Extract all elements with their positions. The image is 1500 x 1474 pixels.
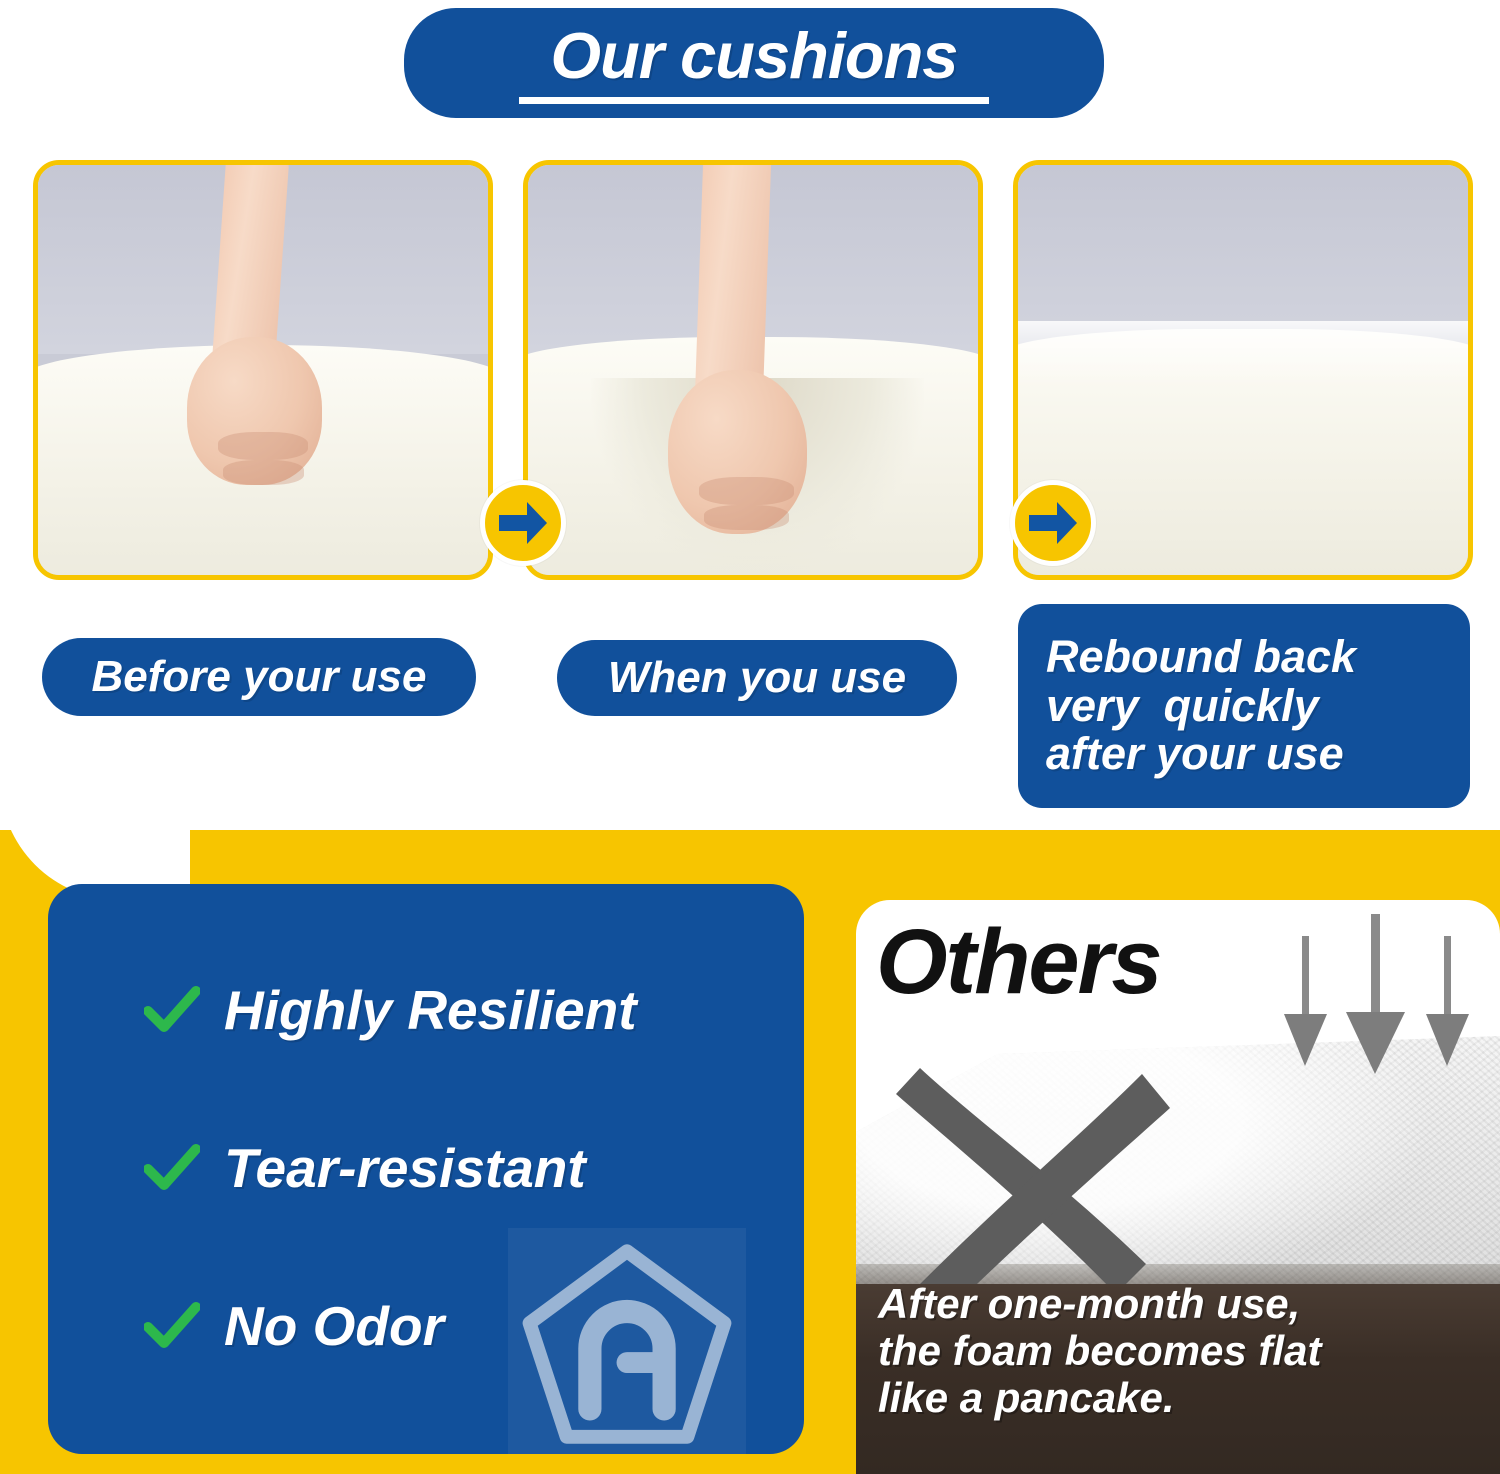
features-panel: Highly Resilient Tear-resistant No Odor (48, 884, 804, 1454)
check-icon (144, 1144, 206, 1192)
photo-card-when-you-use (523, 160, 983, 580)
photo-scene-fist-resting (38, 165, 488, 575)
feature-item: Tear-resistant (144, 1104, 784, 1232)
others-caption-strip: After one-month use, the foam becomes fl… (856, 1284, 1500, 1474)
down-arrow-icon (1258, 914, 1488, 1074)
rebound-line-3: after your use (1046, 730, 1344, 779)
others-comparison-card: Others After one-month use, the foam bec… (856, 900, 1500, 1474)
feature-item: Highly Resilient (144, 946, 784, 1074)
rebound-line-2: very quickly (1046, 682, 1319, 731)
knuckle-line (704, 505, 790, 530)
others-caption: After one-month use, the foam becomes fl… (878, 1280, 1498, 1421)
caption-line-3: like a pancake. (878, 1374, 1498, 1421)
right-arrow-icon (480, 480, 566, 566)
others-title: Others (876, 916, 1161, 1008)
caption-line-2: the foam becomes flat (878, 1327, 1498, 1374)
step-label-when-you-use: When you use (557, 640, 957, 716)
check-icon (144, 986, 206, 1034)
page-title: Our cushions (551, 23, 958, 88)
rebound-line-1: Rebound back (1046, 633, 1356, 682)
pentagon-arch-logo-icon (508, 1228, 746, 1454)
feature-label: No Odor (224, 1294, 444, 1358)
title-underline (519, 97, 989, 104)
comparison-photo-row (33, 160, 1473, 580)
photo-scene-fist-pressing (528, 165, 978, 575)
photo-card-before-use (33, 160, 493, 580)
foam-highlight (1018, 321, 1468, 387)
step-label-rebound: Rebound back very quickly after your use (1018, 604, 1470, 808)
check-icon (144, 1302, 206, 1350)
right-arrow-icon (1010, 480, 1096, 566)
comparison-section: Our cushions (0, 0, 1500, 830)
page-title-banner: Our cushions (404, 8, 1104, 118)
caption-line-1: After one-month use, (878, 1280, 1498, 1327)
knuckle-line (223, 460, 304, 485)
step-label-before-use: Before your use (42, 638, 476, 716)
feature-label: Tear-resistant (224, 1136, 586, 1200)
knuckle-line (218, 432, 308, 461)
feature-label: Highly Resilient (224, 978, 637, 1042)
knuckle-line (699, 477, 794, 506)
